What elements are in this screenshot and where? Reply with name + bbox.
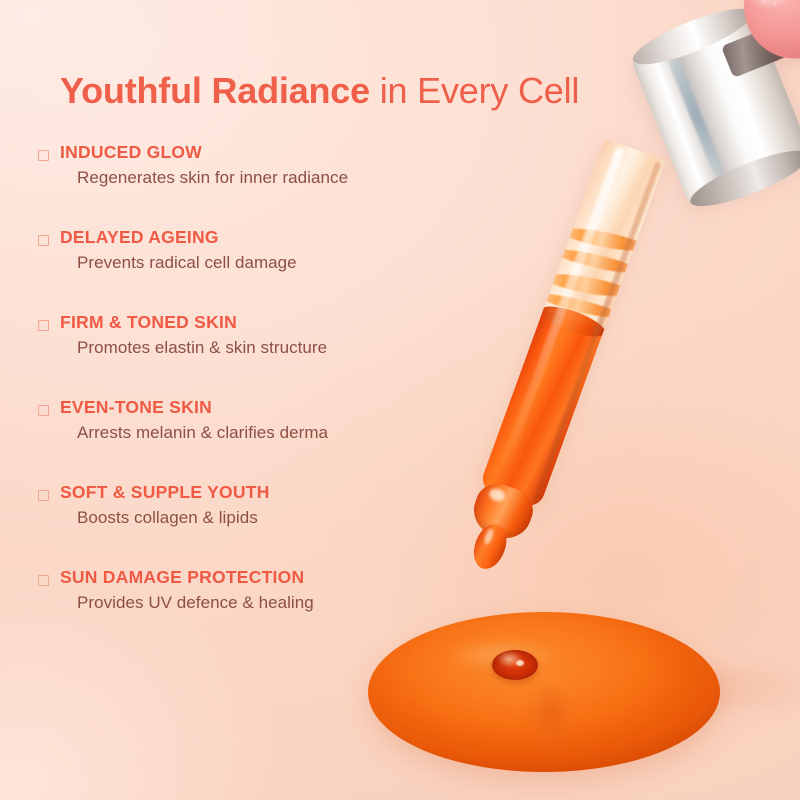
benefit-title: DELAYED AGEING bbox=[60, 227, 468, 248]
benefit-title: FIRM & TONED SKIN bbox=[60, 312, 468, 333]
square-bullet-icon bbox=[38, 320, 49, 331]
benefit-description: Prevents radical cell damage bbox=[77, 251, 468, 275]
square-bullet-icon bbox=[38, 405, 49, 416]
benefit-item-delayed-ageing: DELAYED AGEING Prevents radical cell dam… bbox=[38, 227, 468, 312]
benefit-title: INDUCED GLOW bbox=[60, 142, 468, 163]
benefit-title: SOFT & SUPPLE YOUTH bbox=[60, 482, 468, 503]
benefit-description: Provides UV defence & healing bbox=[77, 591, 468, 615]
benefit-item-sun-damage-protection: SUN DAMAGE PROTECTION Provides UV defenc… bbox=[38, 567, 468, 652]
product-benefits-poster: Youthful Radiance in Every Cell INDUCED … bbox=[0, 0, 800, 800]
benefits-list: INDUCED GLOW Regenerates skin for inner … bbox=[38, 142, 468, 652]
page-title: Youthful Radiance in Every Cell bbox=[60, 68, 700, 114]
benefit-title: SUN DAMAGE PROTECTION bbox=[60, 567, 468, 588]
square-bullet-icon bbox=[38, 490, 49, 501]
benefit-description: Boosts collagen & lipids bbox=[77, 506, 468, 530]
page-title-bold: Youthful Radiance bbox=[60, 70, 370, 111]
benefit-description: Regenerates skin for inner radiance bbox=[77, 166, 468, 190]
benefit-description: Arrests melanin & clarifies derma bbox=[77, 421, 468, 445]
page-title-light: in Every Cell bbox=[370, 70, 579, 111]
benefit-title: EVEN-TONE SKIN bbox=[60, 397, 468, 418]
square-bullet-icon bbox=[38, 575, 49, 586]
square-bullet-icon bbox=[38, 235, 49, 246]
benefit-item-soft-supple-youth: SOFT & SUPPLE YOUTH Boosts collagen & li… bbox=[38, 482, 468, 567]
benefit-item-firm-toned-skin: FIRM & TONED SKIN Promotes elastin & ski… bbox=[38, 312, 468, 397]
benefit-item-induced-glow: INDUCED GLOW Regenerates skin for inner … bbox=[38, 142, 468, 227]
benefit-item-even-tone-skin: EVEN-TONE SKIN Arrests melanin & clarifi… bbox=[38, 397, 468, 482]
benefit-description: Promotes elastin & skin structure bbox=[77, 336, 468, 360]
square-bullet-icon bbox=[38, 150, 49, 161]
